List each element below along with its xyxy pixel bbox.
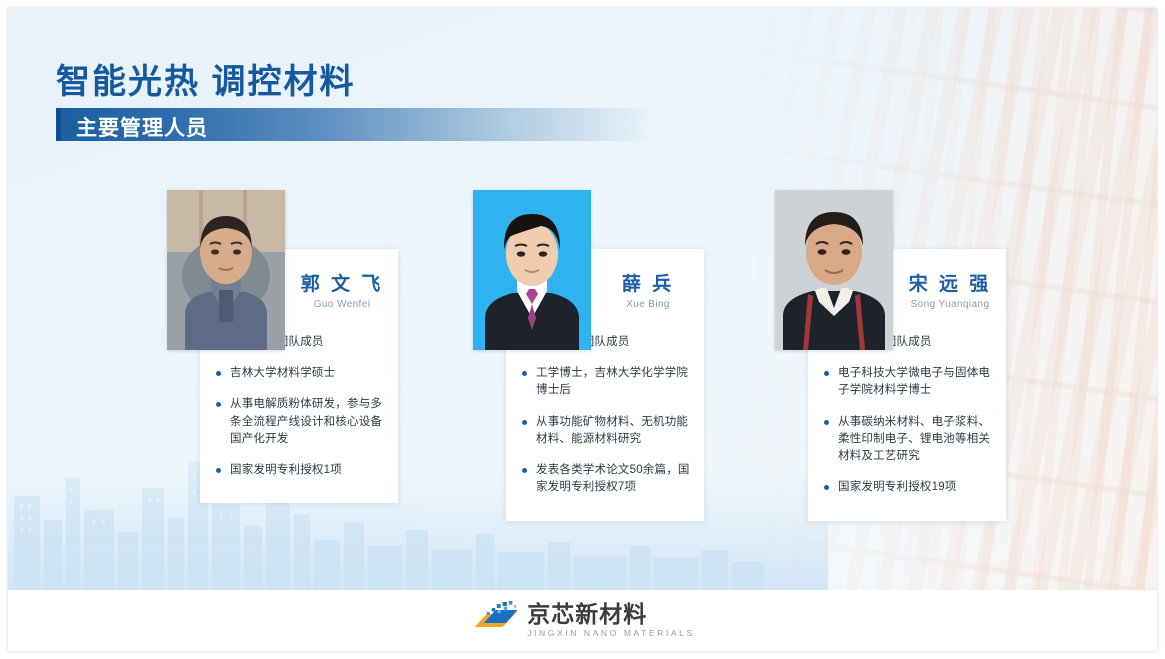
slide-canvas: 智能光热 调控材料 主要管理人员: [8, 8, 1157, 651]
list-item: 工学博士，吉林大学化学学院博士后: [522, 365, 690, 400]
name-block-1: 郭 文 飞 Guo Wenfei: [286, 249, 398, 316]
jingxin-logo-icon: [470, 601, 518, 639]
list-item: 国家发明专利授权1项: [216, 462, 384, 479]
slide-content-band: 智能光热 调控材料 主要管理人员: [8, 8, 1157, 590]
section-banner: 主要管理人员: [56, 108, 656, 141]
list-item: 从事功能矿物材料、无机功能材料、能源材料研究: [522, 414, 690, 449]
list-item: 从事碳纳米材料、电子浆料、柔性印制电子、锂电池等相关材料及工艺研究: [824, 414, 992, 466]
person-name-cn-3: 宋 远 强: [902, 275, 998, 296]
background-city-haze: [8, 470, 828, 590]
name-block-3: 宋 远 强 Song Yuanqiang: [894, 249, 1006, 316]
banner-accent-bar: [56, 108, 61, 141]
list-item: 从事电解质粉体研发，参与多条全流程产线设计和核心设备国产化开发: [216, 396, 384, 448]
portrait-photo-icon: [775, 190, 893, 350]
avatar-photo-1: [167, 190, 285, 350]
person-name-en-1: Guo Wenfei: [294, 299, 390, 310]
list-item: 发表各类学术论文50余篇，国家发明专利授权7项: [522, 462, 690, 497]
logo-text: 京芯新材料 JINGXIN NANO MATERIALS: [527, 603, 695, 638]
avatar-photo-3: [775, 190, 893, 350]
company-logo: 京芯新材料 JINGXIN NANO MATERIALS: [470, 601, 695, 639]
name-block-2: 薛 兵 Xue Bing: [592, 249, 704, 316]
person-name-en-3: Song Yuanqiang: [902, 299, 998, 310]
list-item: 吉林大学材料学硕士: [216, 365, 384, 382]
list-item: 电子科技大学微电子与固体电子学院材料学博士: [824, 365, 992, 400]
logo-name-cn: 京芯新材料: [527, 603, 695, 626]
page-title: 智能光热 调控材料: [56, 54, 355, 103]
portrait-photo-icon: [473, 190, 591, 350]
slide-footer: 京芯新材料 JINGXIN NANO MATERIALS: [8, 590, 1157, 651]
person-name-cn-2: 薛 兵: [600, 275, 696, 296]
slide-page: 智能光热 调控材料 主要管理人员: [0, 0, 1165, 659]
person-name-cn-1: 郭 文 飞: [294, 275, 390, 296]
list-item: 国家发明专利授权19项: [824, 479, 992, 496]
logo-name-en: JINGXIN NANO MATERIALS: [527, 629, 695, 638]
person-name-en-2: Xue Bing: [600, 299, 696, 310]
portrait-photo-icon: [167, 190, 285, 350]
section-banner-label: 主要管理人员: [76, 112, 208, 142]
avatar-photo-2: [473, 190, 591, 350]
